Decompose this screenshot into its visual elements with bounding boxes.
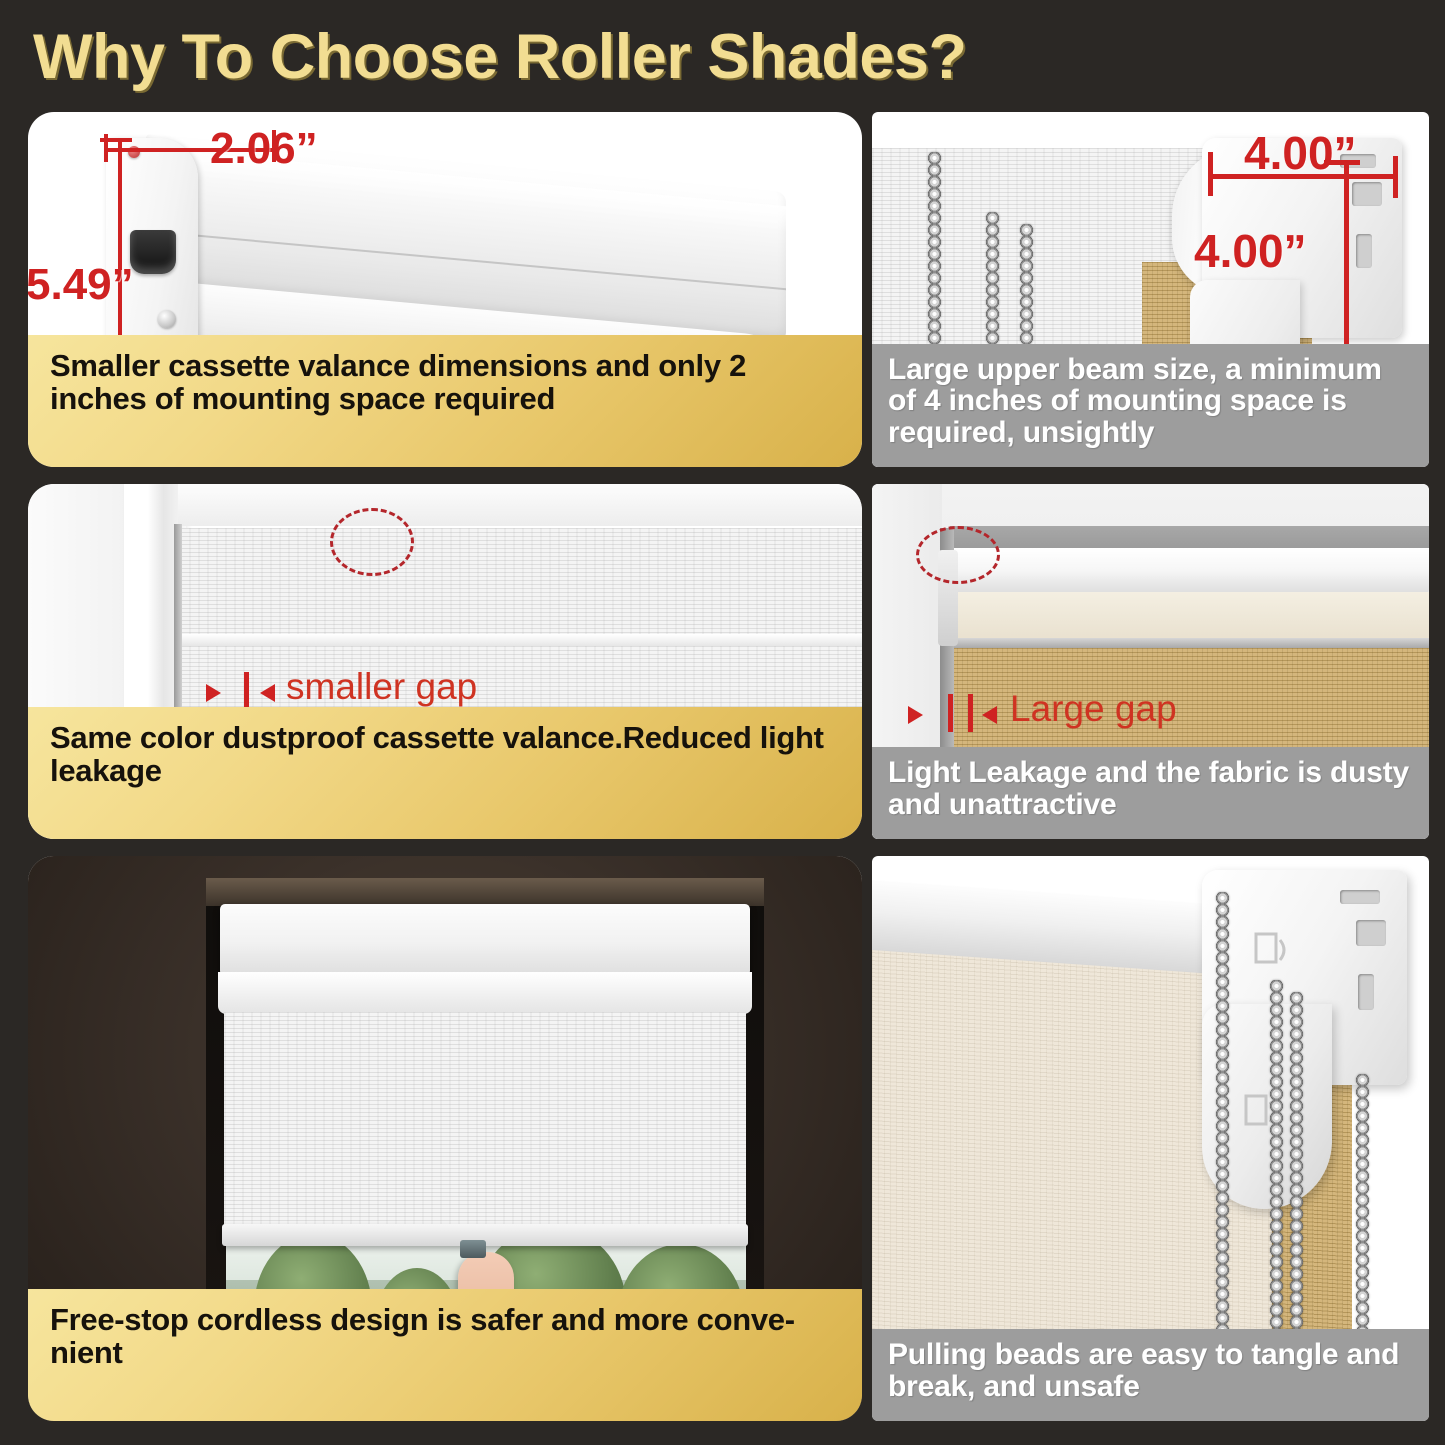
window-head-jamb <box>178 484 862 526</box>
bracket-notch-c <box>1356 234 1372 268</box>
gap-label: Large gap <box>1010 688 1177 730</box>
panel-cordless-design: Free-stop cordless design is safer and m… <box>28 856 862 1421</box>
pull-tab <box>460 1240 486 1258</box>
bracket-wave-icon <box>1246 928 1300 972</box>
panel-pulling-beads: Pulling beads are easy to tangle and bre… <box>872 856 1429 1421</box>
panel-1-caption: Smaller cassette valance dimensions and … <box>28 335 862 467</box>
room-cassette-valance <box>220 904 750 976</box>
panel-3-caption: Same color dustproof cassette valance.Re… <box>28 707 862 839</box>
page-title: Why To Choose Roller Shades? <box>33 18 1413 96</box>
dim-beam-width-tick-left <box>1208 152 1213 196</box>
panel-6-caption: Pulling beads are easy to tangle and bre… <box>872 1329 1429 1421</box>
infographic-root: Why To Choose Roller Shades? 2.06” <box>0 0 1445 1445</box>
gap-label: smaller gap <box>286 666 477 708</box>
panel-large-beam: 4.00” 4.00” Large upper beam size, a min… <box>872 112 1429 467</box>
highlight-circle <box>916 526 1000 584</box>
gap-arrow-left <box>908 706 923 724</box>
dim-beam-height-tick-top <box>1324 160 1360 165</box>
panel-smaller-cassette: 2.06” 5.49” Smaller cassette valance dim… <box>28 112 862 467</box>
dim-width-label: 2.06” <box>210 124 318 174</box>
panel-5-caption: Free-stop cordless design is safer and m… <box>28 1289 862 1421</box>
bracket-notch-a <box>1340 890 1380 904</box>
highlight-circle <box>330 508 414 576</box>
gap-arrow-right <box>982 706 997 724</box>
bracket-notch-c <box>1358 974 1374 1010</box>
gap-tick-b <box>968 694 973 732</box>
panel-dustproof-valance: smaller gap Same color dustproof cassett… <box>28 484 862 839</box>
gap-arrow-left <box>206 684 221 702</box>
room-cassette-lip <box>218 972 752 1014</box>
room-shade-fabric <box>224 1012 746 1238</box>
dim-beam-height-label: 4.00” <box>1194 224 1307 278</box>
dim-beam-width-label: 4.00” <box>1244 126 1357 180</box>
panel-light-leakage: Large gap Light Leakage and the fabric i… <box>872 484 1429 839</box>
valance-slot <box>130 230 176 274</box>
panel-4-caption: Light Leakage and the fabric is dusty an… <box>872 747 1429 839</box>
gap-arrow-right <box>260 684 275 702</box>
window-reveal <box>206 878 764 906</box>
dim-height-tick-top <box>100 138 132 142</box>
valance-seam <box>146 230 786 290</box>
leak-beam <box>950 548 1429 598</box>
dim-height-label: 5.49” <box>28 260 134 310</box>
leak-rail <box>950 638 1429 648</box>
cassette-valance-front <box>180 528 862 636</box>
leak-cream-band <box>954 592 1429 640</box>
dim-beam-width-tick-right <box>1393 156 1398 198</box>
bracket-notch-b <box>1356 920 1386 946</box>
gap-tick <box>244 672 249 710</box>
bracket-notch-b <box>1352 182 1382 206</box>
panel-2-caption: Large upper beam size, a minimum of 4 in… <box>872 344 1429 467</box>
valance-screw <box>158 310 176 328</box>
gap-tick-a <box>948 694 953 732</box>
